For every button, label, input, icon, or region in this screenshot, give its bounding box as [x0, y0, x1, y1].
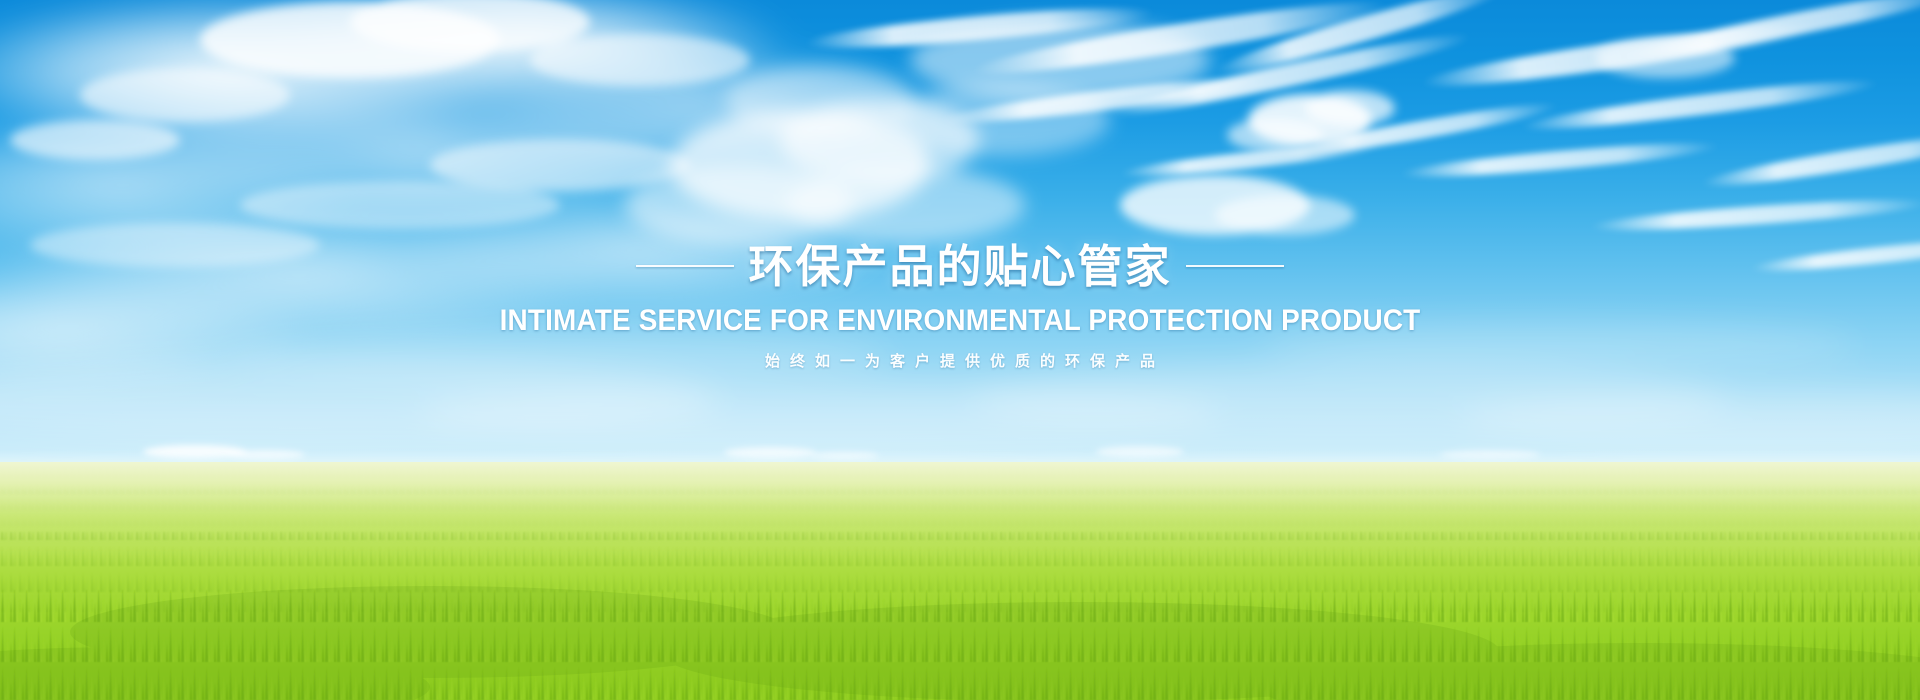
page-title: 环保产品的贴心管家	[748, 244, 1171, 289]
subtitle: INTIMATE SERVICE FOR ENVIRONMENTAL PROTE…	[67, 306, 1853, 336]
hero-banner: 环保产品的贴心管家 INTIMATE SERVICE FOR ENVIRONME…	[0, 0, 1920, 700]
right-rule-decoration	[1186, 265, 1284, 267]
cloud-layer	[0, 0, 1920, 470]
left-rule-decoration	[636, 265, 734, 267]
hero-copy: 环保产品的贴心管家 INTIMATE SERVICE FOR ENVIRONME…	[0, 238, 1920, 369]
tagline: 始终如一为客户提供优质的环保产品	[0, 354, 1920, 369]
grass-blade-texture	[0, 462, 1920, 700]
headline-row: 环保产品的贴心管家	[0, 238, 1920, 294]
